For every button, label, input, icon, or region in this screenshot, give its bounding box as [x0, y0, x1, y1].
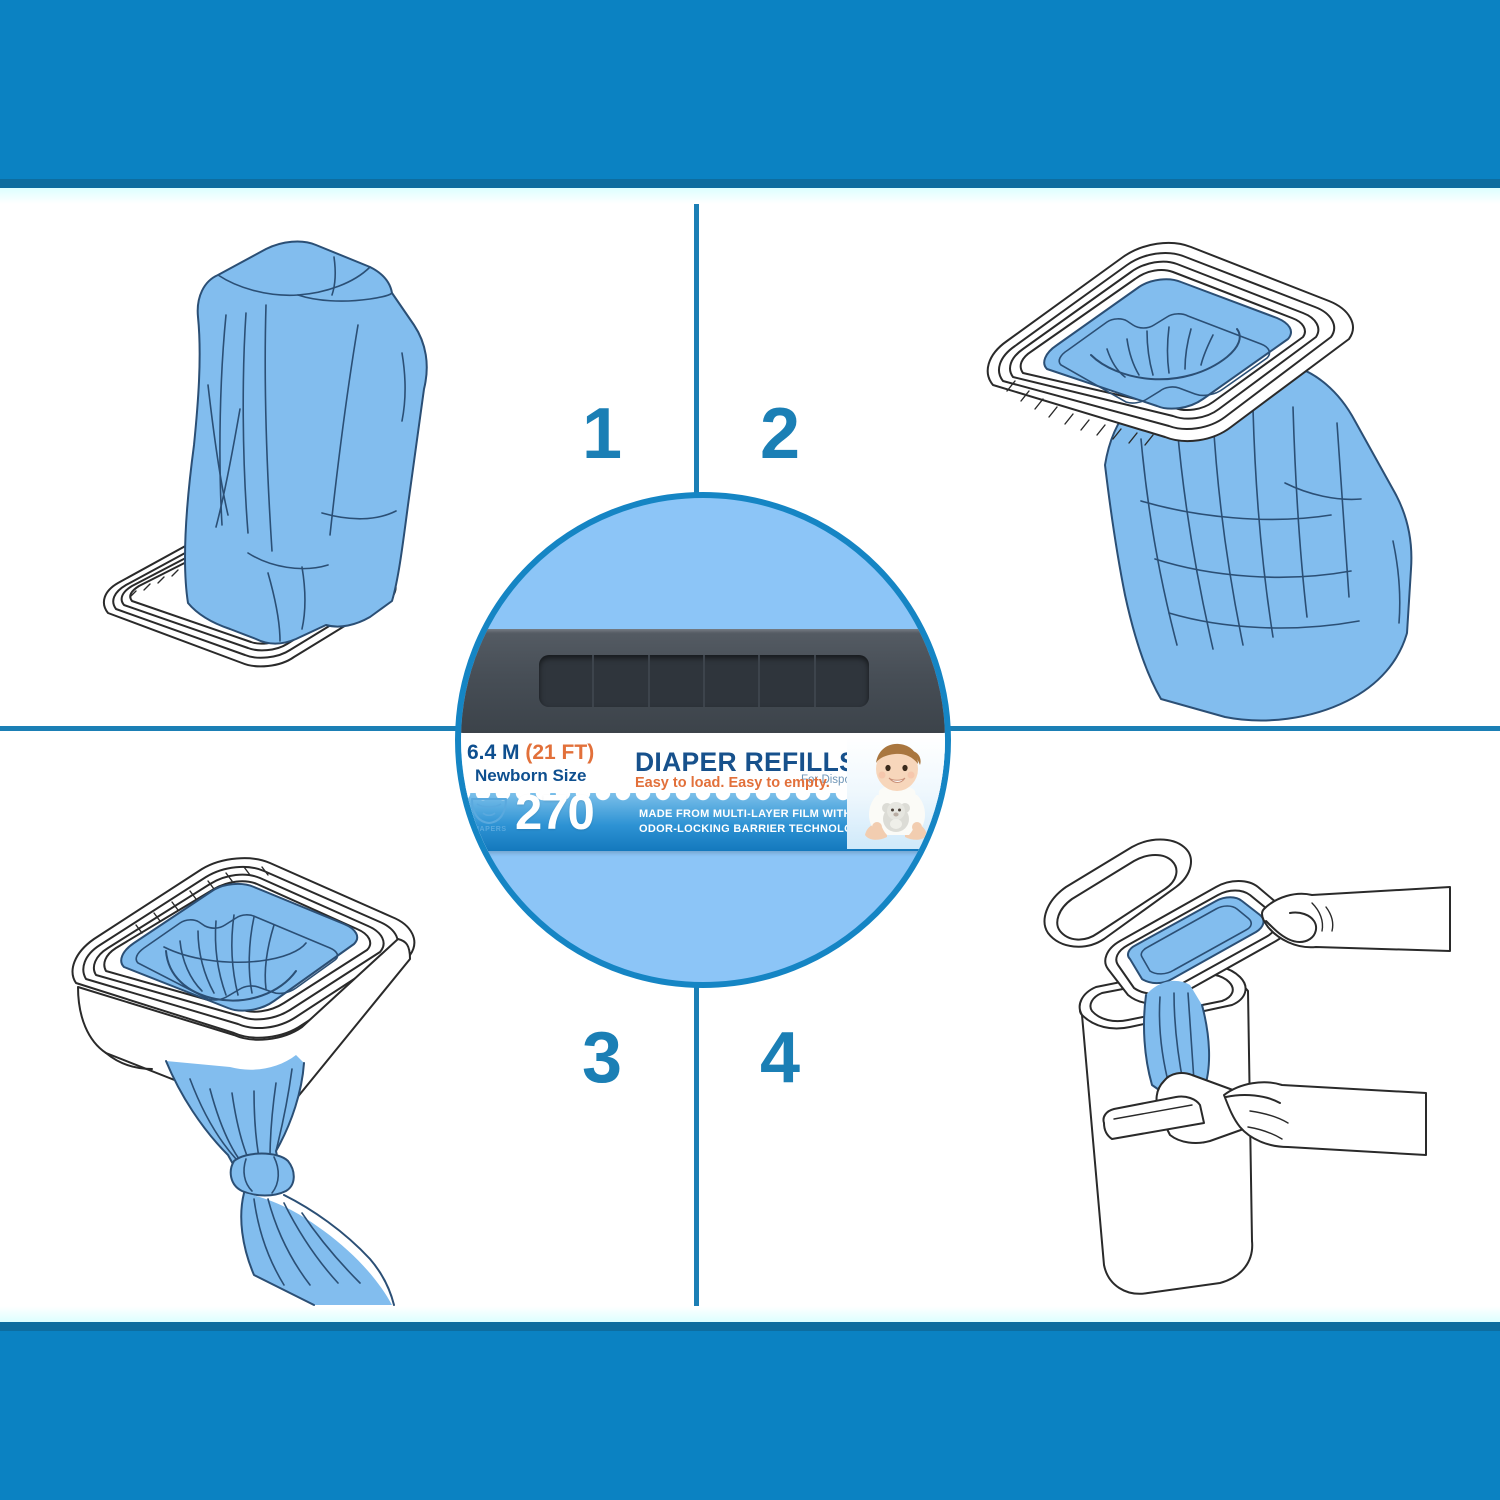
- product-highlight-circle: 6.4 M (21 FT) Newborn Size DIAPERS 270 D…: [455, 492, 951, 988]
- bottom-caption-band: [0, 1322, 1500, 1500]
- label-length-metric: 6.4 M: [467, 741, 520, 764]
- diaper-icon-label: DIAPERS: [467, 826, 511, 833]
- label-length: 6.4 M (21 FT): [467, 741, 594, 765]
- label-tagline: Easy to load. Easy to empty.: [635, 775, 830, 791]
- product-label: 6.4 M (21 FT) Newborn Size DIAPERS 270 D…: [455, 733, 951, 851]
- cartridge-lid: [455, 629, 951, 733]
- baby-photo: [847, 737, 945, 849]
- step-1-illustration: [70, 205, 520, 705]
- diaper-icon: DIAPERS: [467, 795, 511, 835]
- step-number-3: 3: [582, 1022, 622, 1094]
- step-4-illustration: [1020, 835, 1450, 1305]
- diaper-refill-cartridge: 6.4 M (21 FT) Newborn Size DIAPERS 270 D…: [455, 629, 951, 851]
- cartridge-lid-well: [539, 655, 869, 707]
- top-caption-band: [0, 0, 1500, 188]
- lid-rib: [760, 655, 815, 707]
- label-count: 270: [515, 789, 594, 838]
- lid-rib: [539, 655, 594, 707]
- label-technology: MADE FROM MULTI-LAYER FILM WITH ODOR-LOC…: [639, 807, 872, 837]
- instructional-infographic: Step1. Start at the notch left by the ta…: [0, 0, 1500, 1500]
- step-3-illustration: [62, 855, 462, 1305]
- lid-rib: [594, 655, 649, 707]
- lid-rib: [650, 655, 705, 707]
- step-number-4: 4: [760, 1022, 800, 1094]
- label-length-imperial: (21 FT): [525, 741, 594, 764]
- lid-rib: [705, 655, 760, 707]
- bottom-band-glow: [0, 1306, 1500, 1322]
- lid-rib: [816, 655, 869, 707]
- step-number-1: 1: [582, 398, 622, 470]
- step-2-illustration: [955, 225, 1425, 725]
- top-band-glow: [0, 188, 1500, 204]
- step-number-2: 2: [760, 398, 800, 470]
- label-size: Newborn Size: [475, 766, 586, 786]
